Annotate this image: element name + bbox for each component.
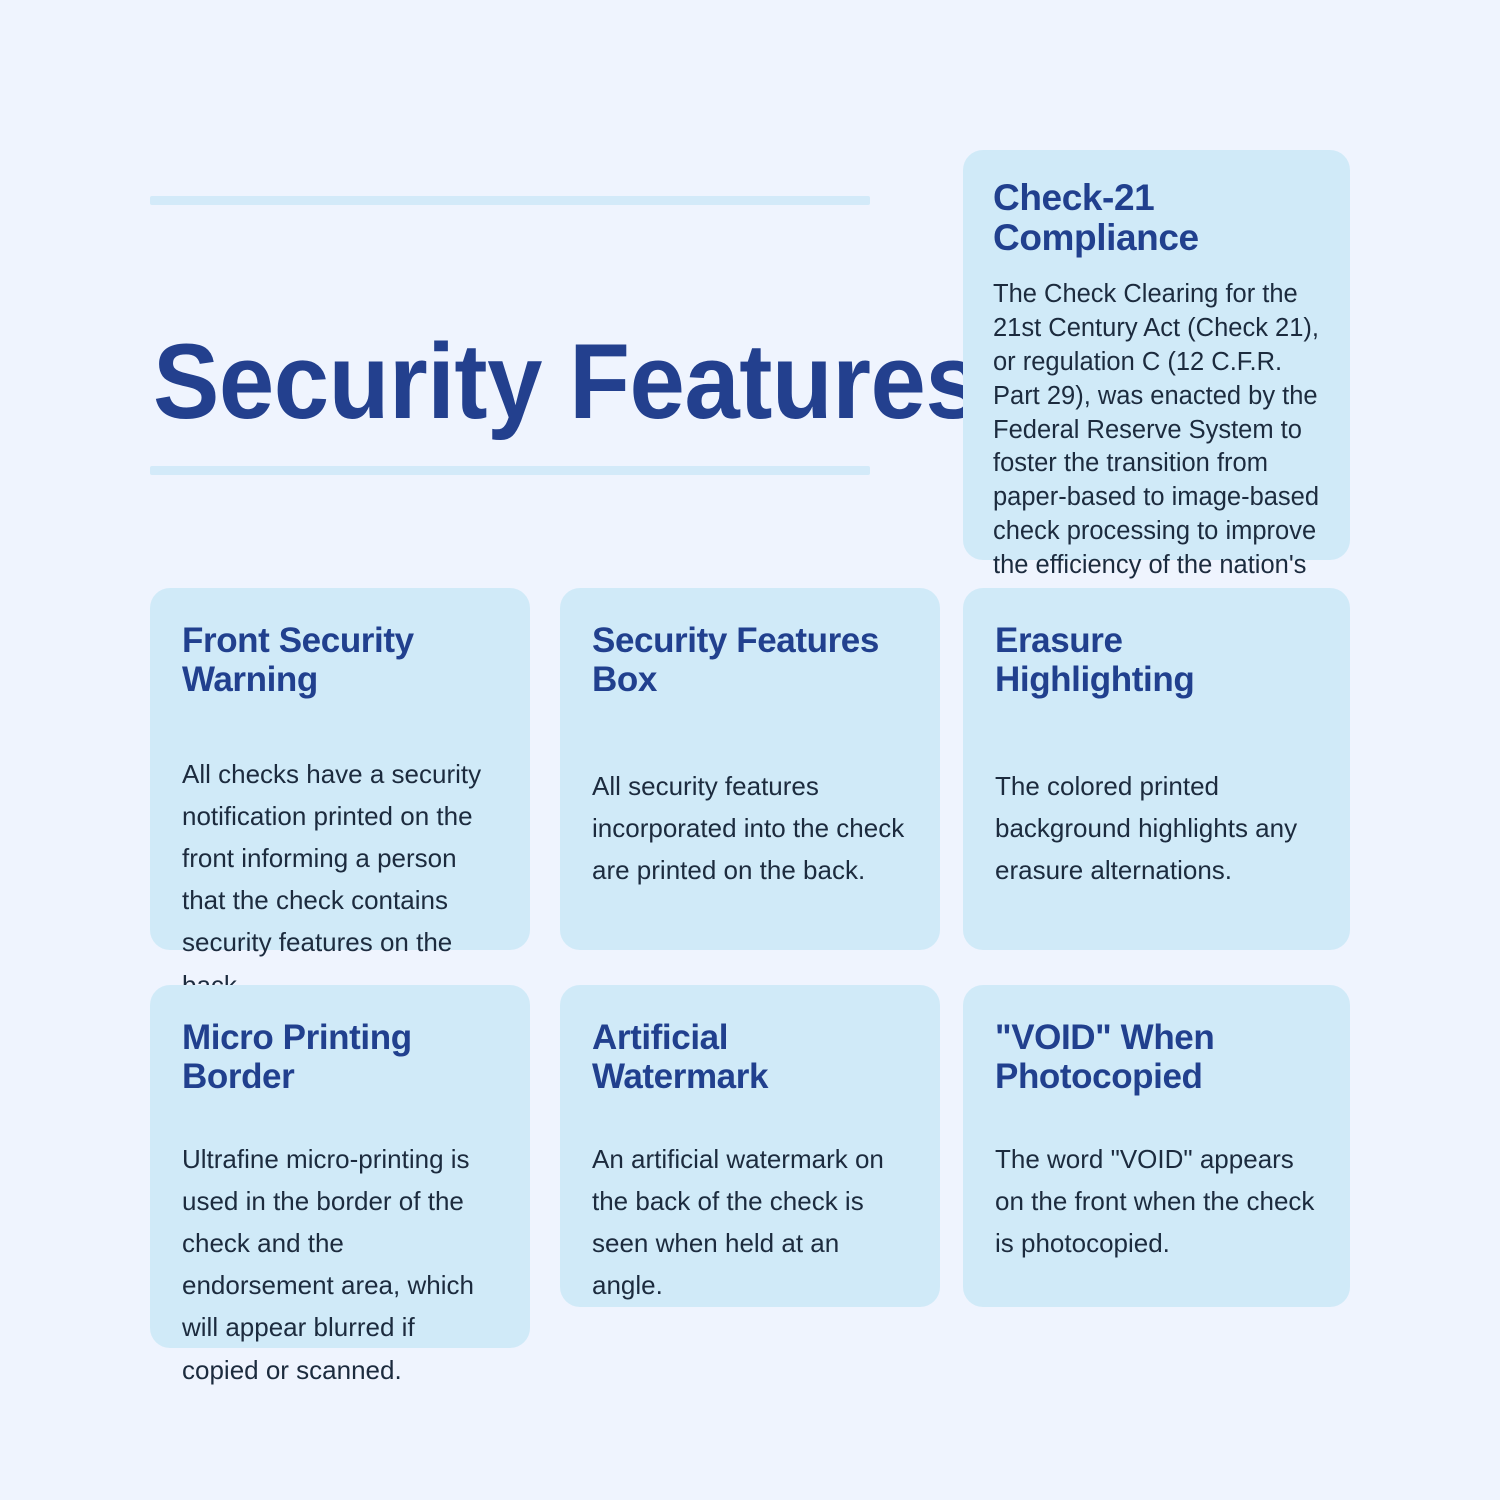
card-title: Check-21 Compliance xyxy=(993,178,1320,258)
card-artificial-watermark: Artificial Watermark An artificial water… xyxy=(560,985,940,1307)
card-erasure-highlighting: Erasure Highlighting The colored printed… xyxy=(963,588,1350,950)
card-body: The colored printed background highlight… xyxy=(995,765,1318,891)
title-block: Security Features xyxy=(150,196,870,484)
page-title: Security Features xyxy=(153,328,823,435)
card-title: Security Features Box xyxy=(592,622,908,699)
security-features-infographic: Security Features Check-21 Compliance Th… xyxy=(0,0,1500,1500)
card-body: All checks have a security notification … xyxy=(182,753,498,1006)
card-body: Ultrafine micro-printing is used in the … xyxy=(182,1138,498,1391)
card-body: The Check Clearing for the 21st Century … xyxy=(993,278,1320,617)
card-security-features-box: Security Features Box All security featu… xyxy=(560,588,940,950)
title-divider-bottom xyxy=(150,466,870,475)
card-title: Erasure Highlighting xyxy=(995,622,1318,699)
card-void-when-photocopied: "VOID" When Photocopied The word "VOID" … xyxy=(963,985,1350,1307)
card-front-security-warning: Front Security Warning All checks have a… xyxy=(150,588,530,950)
card-body: All security features incorporated into … xyxy=(592,765,908,891)
card-title: Front Security Warning xyxy=(182,622,498,699)
card-micro-printing-border: Micro Printing Border Ultrafine micro-pr… xyxy=(150,985,530,1348)
card-title: Micro Printing Border xyxy=(182,1019,498,1096)
card-title: Artificial Watermark xyxy=(592,1019,908,1096)
card-body: The word "VOID" appears on the front whe… xyxy=(995,1138,1318,1264)
title-divider-top xyxy=(150,196,870,205)
card-body: An artificial watermark on the back of t… xyxy=(592,1138,908,1306)
card-check-21-compliance: Check-21 Compliance The Check Clearing f… xyxy=(963,150,1350,560)
card-title: "VOID" When Photocopied xyxy=(995,1019,1318,1096)
